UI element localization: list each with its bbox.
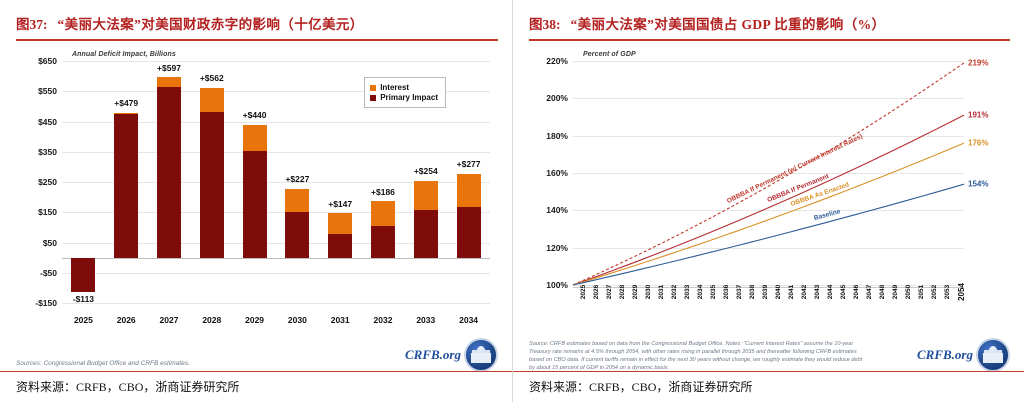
y-axis-tick: $150 [38,207,57,217]
bar-stack [285,189,309,258]
bar-value-label: +$562 [200,73,224,83]
x-axis-tick: 2040 [768,288,781,333]
y-axis-tick: 220% [546,56,568,66]
x-axis-tick: 2034 [690,288,703,333]
y-axis-tick: $350 [38,147,57,157]
x-axis-tick: 2048 [873,288,886,333]
bar-column[interactable]: +$277 [447,61,490,303]
y-axis-tick: -$50 [40,268,57,278]
bar-segment-primary [371,226,395,257]
x-axis-tick: 2034 [447,315,490,325]
bar-value-label: +$254 [414,166,438,176]
right-crfb-logo-text: CRFB.org [917,347,973,363]
x-axis-tick: 2026 [105,315,148,325]
interest-swatch-icon [370,85,376,91]
left-figure-number: 图37: [16,13,48,33]
bar-segment-primary [243,151,267,258]
left-crfb-logo-text: CRFB.org [405,347,461,363]
y-axis-tick: -$150 [35,298,57,308]
bar-column[interactable]: +$479 [105,61,148,303]
x-axis-tick: 2043 [808,288,821,333]
line-series-group: 219%OBBBA If Permanent (w/ Current Inter… [573,61,964,285]
figure-pair-page: 图37: “美丽大法案”对美国财政赤字的影响（十亿美元） Annual Defi… [0,0,1024,402]
x-axis-tick: 2047 [860,288,873,333]
bar-segment-interest [157,77,181,87]
bar-column[interactable]: -$113 [62,61,105,303]
bar-value-label: +$597 [157,63,181,73]
x-axis-tick: 2054 [951,288,964,333]
line-end-value-label: 191% [968,111,988,120]
x-axis-tick: 2025 [573,288,586,333]
bar-segment-interest [457,174,481,207]
left-crfb-logo: CRFB.org [405,338,498,372]
x-axis-tick: 2030 [276,315,319,325]
right-footer-rule [513,371,1024,373]
x-axis-tick: 2052 [925,288,938,333]
right-crfb-logo: CRFB.org [917,338,1010,372]
x-axis-tick: 2051 [912,288,925,333]
x-axis-tick: 2027 [148,315,191,325]
y-axis-tick: $650 [38,56,57,66]
right-title-rule [529,39,1010,41]
bar-value-label: +$440 [243,110,267,120]
bar-segment-primary [457,207,481,258]
x-axis-tick: 2053 [938,288,951,333]
x-axis-tick: 2030 [638,288,651,333]
x-axis-tick: 2027 [599,288,612,333]
x-axis-tick: 2035 [703,288,716,333]
bar-stack [243,125,267,258]
bar-stack [457,174,481,258]
x-axis-tick: 2044 [821,288,834,333]
right-source-note: Source: CRFB estimates based on data fro… [529,340,869,372]
x-axis-tick: 2042 [795,288,808,333]
y-axis-tick: 200% [546,93,568,103]
y-axis-tick: $450 [38,117,57,127]
bar-column[interactable]: +$227 [276,61,319,303]
y-axis-tick: 180% [546,131,568,141]
left-x-axis-ticks: 2025202620272028202920302031203220332034 [62,315,490,325]
bar-segment-primary [414,210,438,257]
line-end-value-label: 176% [968,139,988,148]
bar-stack [200,88,224,258]
x-axis-tick: 2049 [886,288,899,333]
bar-value-label: +$186 [371,187,395,197]
bar-stack [71,258,95,292]
bar-segment-primary [200,112,224,258]
y-axis-tick: 140% [546,205,568,215]
bar-stack [114,113,138,258]
bar-segment-interest [371,201,395,226]
x-axis-tick: 2029 [233,315,276,325]
bar-chart-legend: Interest Primary Impact [364,77,446,108]
line-end-value-label: 219% [968,58,988,67]
bar-segment-interest [328,213,352,234]
y-axis-tick: $550 [38,86,57,96]
right-figure-number: 图38: [529,13,561,33]
legend-item-primary: Primary Impact [370,93,438,102]
bar-value-label: +$277 [457,159,481,169]
left-chart-axis-note: Annual Deficit Impact, Billions [72,51,176,58]
y-axis-tick: 160% [546,168,568,178]
y-axis-tick: 120% [546,243,568,253]
y-axis-tick: $50 [43,238,57,248]
left-figure-title: 图37: “美丽大法案”对美国财政赤字的影响（十亿美元） [0,0,512,39]
left-footer-source: 资料来源：CRFB，CBO，浙商证券研究所 [16,378,239,395]
right-figure-panel: 图38: “美丽大法案”对美国国债占 GDP 比重的影响（%） Percent … [512,0,1024,402]
left-source-note: Sources: Congressional Budget Office and… [16,359,190,368]
x-axis-tick: 2045 [834,288,847,333]
left-figure-title-text: “美丽大法案”对美国财政赤字的影响（十亿美元） [58,13,364,33]
debt-to-gdp-line-chart: Percent of GDP 100%120%140%160%180%200%2… [529,47,1010,347]
capitol-dome-icon [976,338,1010,372]
bar-column[interactable]: +$440 [233,61,276,303]
bar-value-label: +$147 [328,199,352,209]
bar-segment-primary [114,114,138,258]
bar-segment-primary [328,234,352,258]
x-axis-tick: 2036 [716,288,729,333]
bar-segment-interest [414,181,438,211]
bar-segment-interest [200,88,224,112]
x-axis-tick: 2041 [782,288,795,333]
line-end-value-label: 154% [968,180,988,189]
line-series-path[interactable] [573,63,964,285]
bar-segment-primary [71,258,95,292]
bar-column[interactable]: +$562 [190,61,233,303]
primary-impact-swatch-icon [370,95,376,101]
bar-value-label: +$479 [114,98,138,108]
bar-stack [371,201,395,257]
legend-label-primary: Primary Impact [380,93,438,102]
capitol-dome-icon [464,338,498,372]
right-x-axis-ticks: 2025202620272028202920302031203220332034… [573,287,964,333]
x-axis-tick: 2037 [729,288,742,333]
bar-segment-interest [243,125,267,151]
left-footer-rule [0,371,512,373]
right-footer-source: 资料来源：CRFB，CBO，浙商证券研究所 [529,378,752,395]
right-plot-area: 100%120%140%160%180%200%220% 219%OBBBA I… [573,61,964,285]
left-title-rule [16,39,498,41]
bar-value-label: -$113 [73,294,94,304]
x-axis-tick: 2039 [755,288,768,333]
x-axis-tick: 2028 [190,315,233,325]
x-axis-tick: 2031 [651,288,664,333]
x-axis-tick: 2046 [847,288,860,333]
bar-stack [414,181,438,258]
right-figure-title-text: “美丽大法案”对美国国债占 GDP 比重的影响（%） [571,13,886,33]
bar-segment-interest [285,189,309,212]
bar-stack [328,213,352,257]
legend-label-interest: Interest [380,83,409,92]
bar-column[interactable]: +$597 [148,61,191,303]
bar-column[interactable]: +$147 [319,61,362,303]
x-axis-tick: 2026 [586,288,599,333]
x-axis-tick: 2038 [742,288,755,333]
x-axis-tick: 2025 [62,315,105,325]
x-axis-tick: 2032 [664,288,677,333]
bar-segment-primary [285,212,309,258]
bar-segment-primary [157,87,181,258]
bar-stack [157,77,181,258]
x-axis-tick: 2028 [612,288,625,333]
x-axis-tick: 2032 [362,315,405,325]
x-axis-tick: 2029 [625,288,638,333]
y-axis-tick: 100% [546,280,568,290]
bar-value-label: +$227 [285,174,309,184]
x-axis-tick: 2031 [319,315,362,325]
gridline [62,303,490,304]
right-chart-axis-note: Percent of GDP [583,51,636,58]
left-figure-panel: 图37: “美丽大法案”对美国财政赤字的影响（十亿美元） Annual Defi… [0,0,512,402]
x-axis-tick: 2050 [899,288,912,333]
x-axis-tick: 2033 [677,288,690,333]
legend-item-interest: Interest [370,83,438,92]
right-figure-title: 图38: “美丽大法案”对美国国债占 GDP 比重的影响（%） [513,0,1024,39]
deficit-bar-chart: Annual Deficit Impact, Billions -$150-$5… [16,47,498,347]
y-axis-tick: $250 [38,177,57,187]
x-axis-tick: 2033 [404,315,447,325]
